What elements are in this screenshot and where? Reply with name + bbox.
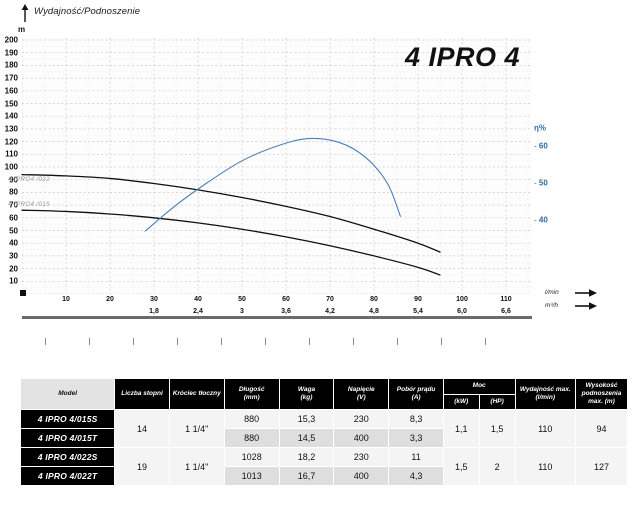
th-power-kw: (kW) bbox=[443, 394, 479, 410]
cell-power-hp: 2 bbox=[479, 448, 515, 486]
table-head: Model Liczba stopni Króciec tłoczny Dług… bbox=[21, 379, 628, 410]
scale-tick bbox=[309, 338, 310, 345]
x-tick-lmin-10: 10 bbox=[62, 296, 70, 303]
cell-head-max: 94 bbox=[575, 410, 627, 448]
table-row[interactable]: 4 IPRO 4/015S141 1/4"88015,32308,31,11,5… bbox=[21, 410, 628, 429]
cell-stages: 19 bbox=[115, 448, 170, 486]
lower-tick-row bbox=[0, 338, 640, 346]
y-tick-140: 140 bbox=[0, 112, 18, 121]
cell-voltage: 230 bbox=[334, 410, 389, 429]
chart-model-title: 4 IPRO 4 bbox=[405, 42, 520, 73]
x-tick-m3h-0: 1,8 bbox=[149, 308, 159, 315]
x-tick-m3h-7: 6,0 bbox=[457, 308, 467, 315]
th-flow-max: Wydajność max. (l/min) bbox=[515, 379, 575, 410]
x-tick-lmin-100: 100 bbox=[456, 296, 468, 303]
x-tick-m3h-8: 6,6 bbox=[501, 308, 511, 315]
th-length: Długość (mm) bbox=[224, 379, 279, 410]
cell-length: 880 bbox=[224, 410, 279, 429]
th-outlet: Króciec tłoczny bbox=[169, 379, 224, 410]
scale-tick bbox=[441, 338, 442, 345]
th-power: Moc bbox=[443, 379, 515, 395]
table-body: 4 IPRO 4/015S141 1/4"88015,32308,31,11,5… bbox=[21, 410, 628, 486]
axis-baseline bbox=[22, 316, 532, 319]
x-unit-lmin: l/min bbox=[545, 289, 559, 296]
cell-current: 3,3 bbox=[389, 429, 443, 448]
y-tick-120: 120 bbox=[0, 137, 18, 146]
cell-current: 4,3 bbox=[389, 467, 443, 486]
x-tick-lmin-40: 40 bbox=[194, 296, 202, 303]
y-tick-150: 150 bbox=[0, 99, 18, 108]
cell-current: 11 bbox=[389, 448, 443, 467]
cell-model: 4 IPRO 4/015S bbox=[21, 410, 115, 429]
table-header-row-1: Model Liczba stopni Króciec tłoczny Dług… bbox=[21, 379, 628, 395]
axis-arrow-icon bbox=[20, 4, 30, 22]
cell-length: 1013 bbox=[224, 467, 279, 486]
curve-label-022: 4 IPRO4 /022 bbox=[8, 176, 50, 183]
x-tick-lmin-50: 50 bbox=[238, 296, 246, 303]
cell-model: 4 IPRO 4/015T bbox=[21, 429, 115, 448]
scale-tick bbox=[265, 338, 266, 345]
y-tick-30: 30 bbox=[0, 251, 18, 260]
x-tick-lmin-70: 70 bbox=[326, 296, 334, 303]
eta-tick-50: - 50 bbox=[534, 179, 548, 188]
y-tick-160: 160 bbox=[0, 86, 18, 95]
eta-tick-40: - 40 bbox=[534, 216, 548, 225]
scale-tick bbox=[397, 338, 398, 345]
y-tick-200: 200 bbox=[0, 36, 18, 45]
eta-tick-60: - 60 bbox=[534, 142, 548, 151]
origin-marker bbox=[20, 290, 26, 296]
scale-tick bbox=[485, 338, 486, 345]
x-tick-lmin-20: 20 bbox=[106, 296, 114, 303]
cell-voltage: 400 bbox=[334, 429, 389, 448]
cell-stages: 14 bbox=[115, 410, 170, 448]
th-current: Pobór prądu (A) bbox=[389, 379, 443, 410]
y-tick-40: 40 bbox=[0, 239, 18, 248]
scale-tick bbox=[353, 338, 354, 345]
curve-label-015: 4 IPRO4 /015 bbox=[8, 201, 50, 208]
th-head-max: Wysokość podnoszenia max. (m) bbox=[575, 379, 627, 410]
y-tick-50: 50 bbox=[0, 226, 18, 235]
th-voltage: Napięcie (V) bbox=[334, 379, 389, 410]
th-stages: Liczba stopni bbox=[115, 379, 170, 410]
y-axis-unit: m bbox=[18, 25, 25, 34]
scale-tick bbox=[221, 338, 222, 345]
cell-outlet: 1 1/4" bbox=[169, 448, 224, 486]
th-weight: Waga (kg) bbox=[279, 379, 333, 410]
cell-weight: 14,5 bbox=[279, 429, 333, 448]
x-tick-m3h-4: 4,2 bbox=[325, 308, 335, 315]
cell-outlet: 1 1/4" bbox=[169, 410, 224, 448]
y-tick-100: 100 bbox=[0, 163, 18, 172]
chart-axis-title: Wydajność/Podnoszenie bbox=[34, 6, 140, 17]
cell-model: 4 IPRO 4/022S bbox=[21, 448, 115, 467]
cell-weight: 15,3 bbox=[279, 410, 333, 429]
y-tick-60: 60 bbox=[0, 213, 18, 222]
specification-table: Model Liczba stopni Króciec tłoczny Dług… bbox=[20, 378, 628, 486]
x-tick-m3h-3: 3,6 bbox=[281, 308, 291, 315]
eta-axis-label: η% bbox=[534, 124, 546, 133]
y-tick-10: 10 bbox=[0, 277, 18, 286]
pump-performance-chart: Wydajność/Podnoszenie m 1020304050607080… bbox=[0, 0, 640, 372]
cell-power-kw: 1,1 bbox=[443, 410, 479, 448]
table-row[interactable]: 4 IPRO 4/022S191 1/4"102818,2230111,5211… bbox=[21, 448, 628, 467]
x-tick-lmin-80: 80 bbox=[370, 296, 378, 303]
x-tick-m3h-5: 4,8 bbox=[369, 308, 379, 315]
cell-head-max: 127 bbox=[575, 448, 627, 486]
cell-flow-max: 110 bbox=[515, 410, 575, 448]
th-model: Model bbox=[21, 379, 115, 410]
x-tick-lmin-90: 90 bbox=[414, 296, 422, 303]
y-tick-20: 20 bbox=[0, 264, 18, 273]
scale-tick bbox=[89, 338, 90, 345]
x-tick-lmin-30: 30 bbox=[150, 296, 158, 303]
cell-current: 8,3 bbox=[389, 410, 443, 429]
curve-layer bbox=[22, 38, 532, 328]
y-tick-180: 180 bbox=[0, 61, 18, 70]
scale-tick bbox=[133, 338, 134, 345]
scale-tick bbox=[45, 338, 46, 345]
y-tick-130: 130 bbox=[0, 124, 18, 133]
cell-length: 880 bbox=[224, 429, 279, 448]
cell-voltage: 400 bbox=[334, 467, 389, 486]
cell-flow-max: 110 bbox=[515, 448, 575, 486]
th-power-hp: (HP) bbox=[479, 394, 515, 410]
x-tick-m3h-6: 5,4 bbox=[413, 308, 423, 315]
right-arrow-icon-m3h bbox=[575, 301, 597, 311]
cell-power-hp: 1,5 bbox=[479, 410, 515, 448]
y-tick-170: 170 bbox=[0, 74, 18, 83]
scale-tick bbox=[177, 338, 178, 345]
x-tick-m3h-2: 3 bbox=[240, 308, 244, 315]
y-tick-80: 80 bbox=[0, 188, 18, 197]
y-tick-110: 110 bbox=[0, 150, 18, 159]
plot-area bbox=[22, 38, 532, 294]
cell-length: 1028 bbox=[224, 448, 279, 467]
x-tick-m3h-1: 2,4 bbox=[193, 308, 203, 315]
cell-voltage: 230 bbox=[334, 448, 389, 467]
right-arrow-icon-lmin bbox=[575, 288, 597, 298]
y-tick-190: 190 bbox=[0, 48, 18, 57]
cell-weight: 18,2 bbox=[279, 448, 333, 467]
cell-model: 4 IPRO 4/022T bbox=[21, 467, 115, 486]
x-tick-lmin-110: 110 bbox=[500, 296, 511, 303]
x-tick-lmin-60: 60 bbox=[282, 296, 290, 303]
cell-weight: 16,7 bbox=[279, 467, 333, 486]
cell-power-kw: 1,5 bbox=[443, 448, 479, 486]
x-unit-m3h: m³/h bbox=[545, 302, 558, 309]
